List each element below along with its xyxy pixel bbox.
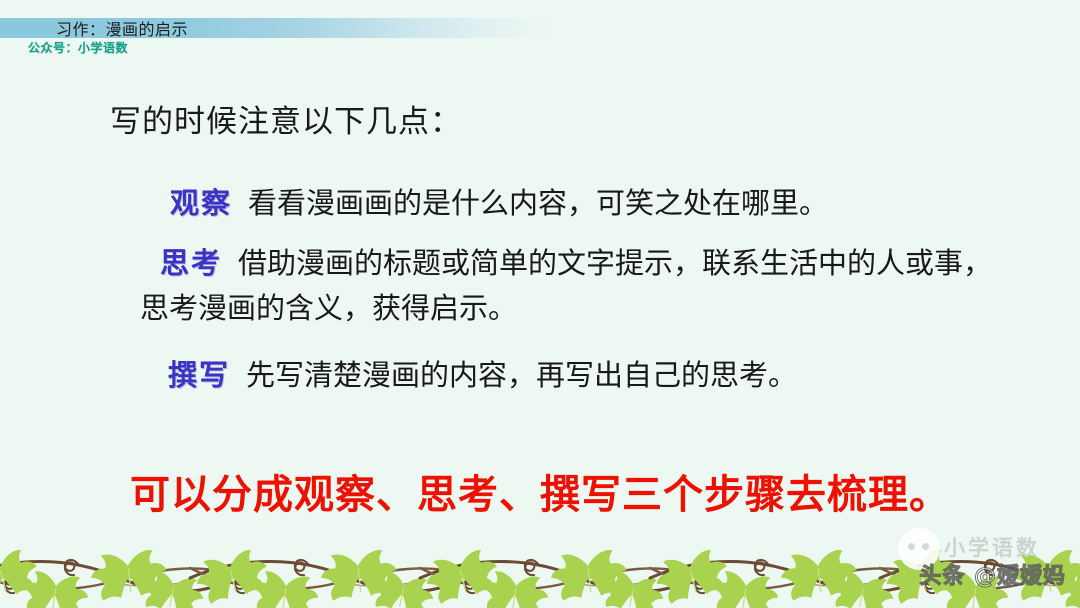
vine-border-decoration [0,530,1080,608]
page-title: 习作：漫画的启示 [56,16,188,40]
point-item-1: 观察看看漫画画的是什么内容，可笑之处在哪里。 [140,180,1010,222]
point-keyword-1: 观察 [170,180,232,222]
header-subtitle: 公众号：小学语数 [28,39,128,56]
point-text-2: 借助漫画的标题或简单的文字提示，联系生活中的人或事，思考漫画的含义，获得启示。 [140,246,992,325]
point-text-1: 看看漫画画的是什么内容，可笑之处在哪里。 [248,186,828,220]
lead-text: 写的时候注意以下几点： [110,96,462,141]
slide-canvas: 习作：漫画的启示 公众号：小学语数 写的时候注意以下几点： 观察看看漫画画的是什… [0,0,1080,608]
point-text-3: 先写清楚漫画的内容，再写出自己的思考。 [246,358,797,392]
point-keyword-2: 思考 [160,240,222,282]
point-keyword-3: 撰写 [168,352,230,394]
point-item-2: 思考借助漫画的标题或简单的文字提示，联系生活中的人或事，思考漫画的含义，获得启示… [140,240,1010,331]
watermark-text: 头条 @嫒嫒妈 [919,558,1066,590]
point-item-3: 撰写先写清楚漫画的内容，再写出自己的思考。 [140,352,1010,394]
conclusion-text: 可以分成观察、思考、撰写三个步骤去梳理。 [0,462,1080,520]
